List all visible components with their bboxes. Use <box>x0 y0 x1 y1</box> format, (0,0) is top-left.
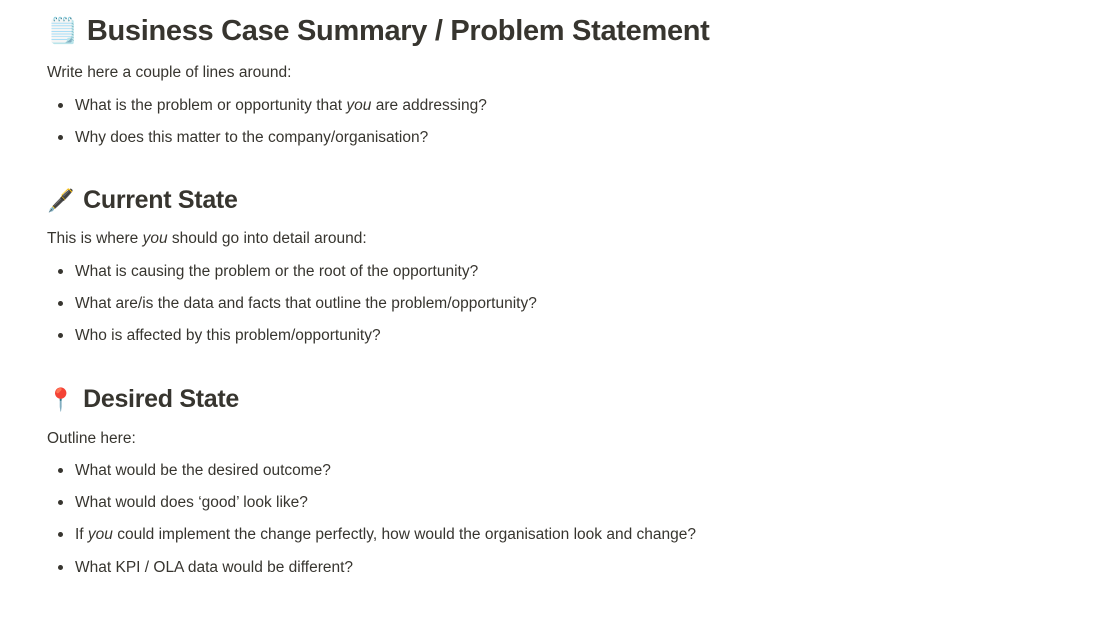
lead-text-italic: you <box>143 230 168 247</box>
section-heading-desired-state: 📍 Desired State <box>47 384 1072 415</box>
lead-text-after: should go into detail around: <box>168 230 367 247</box>
bullet-dot-icon <box>58 500 63 505</box>
list-item: What is causing the problem or the root … <box>47 260 1072 283</box>
bullet-dot-icon <box>58 103 63 108</box>
list-item: Who is affected by this problem/opportun… <box>47 324 1072 347</box>
list-item-text: What KPI / OLA data would be different? <box>75 559 353 576</box>
section-heading-current-state: 🖋️ Current State <box>47 185 1072 216</box>
round-pushpin-emoji: 📍 <box>47 389 74 411</box>
list-item: What would be the desired outcome? <box>47 459 1072 482</box>
section-heading-text: Current State <box>83 185 237 216</box>
current-state-lead-text: This is where you should go into detail … <box>47 227 1072 250</box>
list-item-text-before: What is the problem or opportunity that <box>75 97 346 114</box>
bullet-dot-icon <box>58 269 63 274</box>
list-item-text-before: If <box>75 526 88 543</box>
list-item: What is the problem or opportunity that … <box>47 94 1072 117</box>
list-item: Why does this matter to the company/orga… <box>47 126 1072 149</box>
list-item-text-after: are addressing? <box>371 97 486 114</box>
desired-state-lead-text: Outline here: <box>47 427 1072 450</box>
list-item: What KPI / OLA data would be different? <box>47 556 1072 579</box>
page-title-text: Business Case Summary / Problem Statemen… <box>87 14 710 49</box>
summary-bullet-list: What is the problem or opportunity that … <box>47 94 1072 150</box>
section-heading-text: Desired State <box>83 384 239 415</box>
bullet-dot-icon <box>58 565 63 570</box>
bullet-dot-icon <box>58 468 63 473</box>
document-page: 🗒️ Business Case Summary / Problem State… <box>0 0 1112 640</box>
list-item-text-before: Why does this matter to the company/orga… <box>75 129 428 146</box>
list-item: If you could implement the change perfec… <box>47 523 1072 546</box>
bullet-dot-icon <box>58 532 63 537</box>
fountain-pen-emoji: 🖋️ <box>47 190 74 212</box>
bullet-dot-icon <box>58 301 63 306</box>
list-item: What are/is the data and facts that outl… <box>47 292 1072 315</box>
page-title: 🗒️ Business Case Summary / Problem State… <box>47 14 1072 49</box>
list-item-text: What would be the desired outcome? <box>75 462 331 479</box>
document-content: 🗒️ Business Case Summary / Problem State… <box>0 0 1112 579</box>
bullet-dot-icon <box>58 333 63 338</box>
list-item-text: What are/is the data and facts that outl… <box>75 295 537 312</box>
list-item-text-after: could implement the change perfectly, ho… <box>113 526 696 543</box>
page-document-emoji: 🗒️ <box>47 19 78 44</box>
bullet-dot-icon <box>58 135 63 140</box>
list-item-text: What would does ‘good’ look like? <box>75 494 308 511</box>
current-state-bullet-list: What is causing the problem or the root … <box>47 260 1072 348</box>
lead-text-before: This is where <box>47 230 143 247</box>
list-item-text: Who is affected by this problem/opportun… <box>75 327 381 344</box>
summary-lead-text: Write here a couple of lines around: <box>47 61 1072 84</box>
desired-state-bullet-list: What would be the desired outcome? What … <box>47 459 1072 579</box>
list-item-text: What is causing the problem or the root … <box>75 263 478 280</box>
list-item-text-italic: you <box>346 97 371 114</box>
list-item-text-italic: you <box>88 526 113 543</box>
list-item: What would does ‘good’ look like? <box>47 491 1072 514</box>
